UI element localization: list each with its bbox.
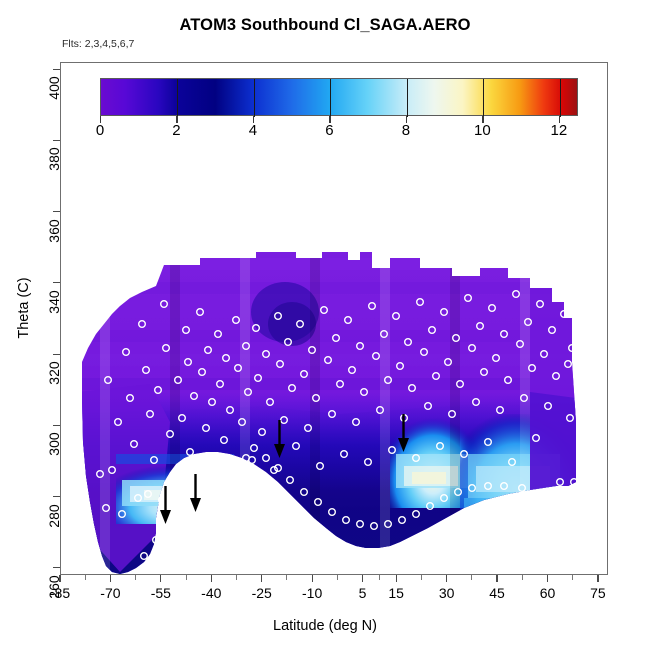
x-axis-label: Latitude (deg N) [0,618,650,634]
page-title: ATOM3 Southbound Cl_SAGA.AERO [0,16,650,35]
x-axis-tick [312,575,313,582]
colorbar: 024681012 [100,78,578,116]
x-axis-tick-label: 45 [471,585,523,601]
x-axis-tick [396,575,397,582]
y-axis-label: Theta (C) [16,228,32,388]
colorbar-separator [560,79,561,117]
x-axis-tick [211,575,212,582]
x-axis-tick [547,575,548,582]
x-axis-tick-label: 15 [370,585,422,601]
x-axis-tick [261,575,262,582]
colorbar-tick-label: 12 [539,122,579,139]
x-axis-minor-tick [337,575,338,580]
x-axis-tick [110,575,111,582]
x-axis-minor-tick [379,575,380,580]
x-axis-tick-label: -25 [236,585,288,601]
colorbar-separator [407,79,408,117]
x-axis-tick-label: 60 [521,585,573,601]
x-axis-tick [362,575,363,582]
x-axis-minor-tick [421,575,422,580]
colorbar-tick-label: 6 [309,122,349,139]
x-axis-tick-label: -10 [286,585,338,601]
x-axis-tick-label: -40 [185,585,237,601]
colorbar-separator [330,79,331,117]
x-axis-tick [160,575,161,582]
flights-annotation: Flts: 2,3,4,5,6,7 [62,38,134,50]
y-axis-tick-label: 300 [46,424,62,464]
x-axis-tick-label: 75 [572,585,624,601]
x-axis-tick [496,575,497,582]
colorbar-separator [177,79,178,117]
colorbar-tick-label: 4 [233,122,273,139]
x-axis-tick-label: -55 [135,585,187,601]
colorbar-tick-label: 8 [386,122,426,139]
arrow-down-1 [160,486,171,524]
heatmap-base-layer [60,242,608,575]
y-axis-tick-label: 320 [46,353,62,393]
x-axis-tick [597,575,598,582]
colorbar-gradient [100,78,578,116]
x-axis-minor-tick [85,575,86,580]
x-axis-minor-tick [186,575,187,580]
y-axis-tick-label: 280 [46,496,62,536]
colorbar-tick-label: 2 [156,122,196,139]
x-axis-tick [446,575,447,582]
x-axis-minor-tick [471,575,472,580]
x-axis-tick-label: -70 [84,585,136,601]
x-axis-minor-tick [236,575,237,580]
colorbar-separator [254,79,255,117]
x-axis-minor-tick [522,575,523,580]
colorbar-separator [483,79,484,117]
y-axis-tick-label: 380 [46,139,62,179]
colorbar-tick-label: 10 [462,122,502,139]
x-axis-minor-tick [286,575,287,580]
colorbar-tick-label: 0 [80,122,120,139]
x-axis-minor-tick [135,575,136,580]
x-axis-minor-tick [572,575,573,580]
y-axis-tick-label: 360 [46,211,62,251]
y-axis-tick-label: 400 [46,68,62,108]
y-axis-tick-label: 340 [46,282,62,322]
y-axis-tick-label: 260 [46,567,62,607]
x-axis-tick-label: 30 [421,585,473,601]
